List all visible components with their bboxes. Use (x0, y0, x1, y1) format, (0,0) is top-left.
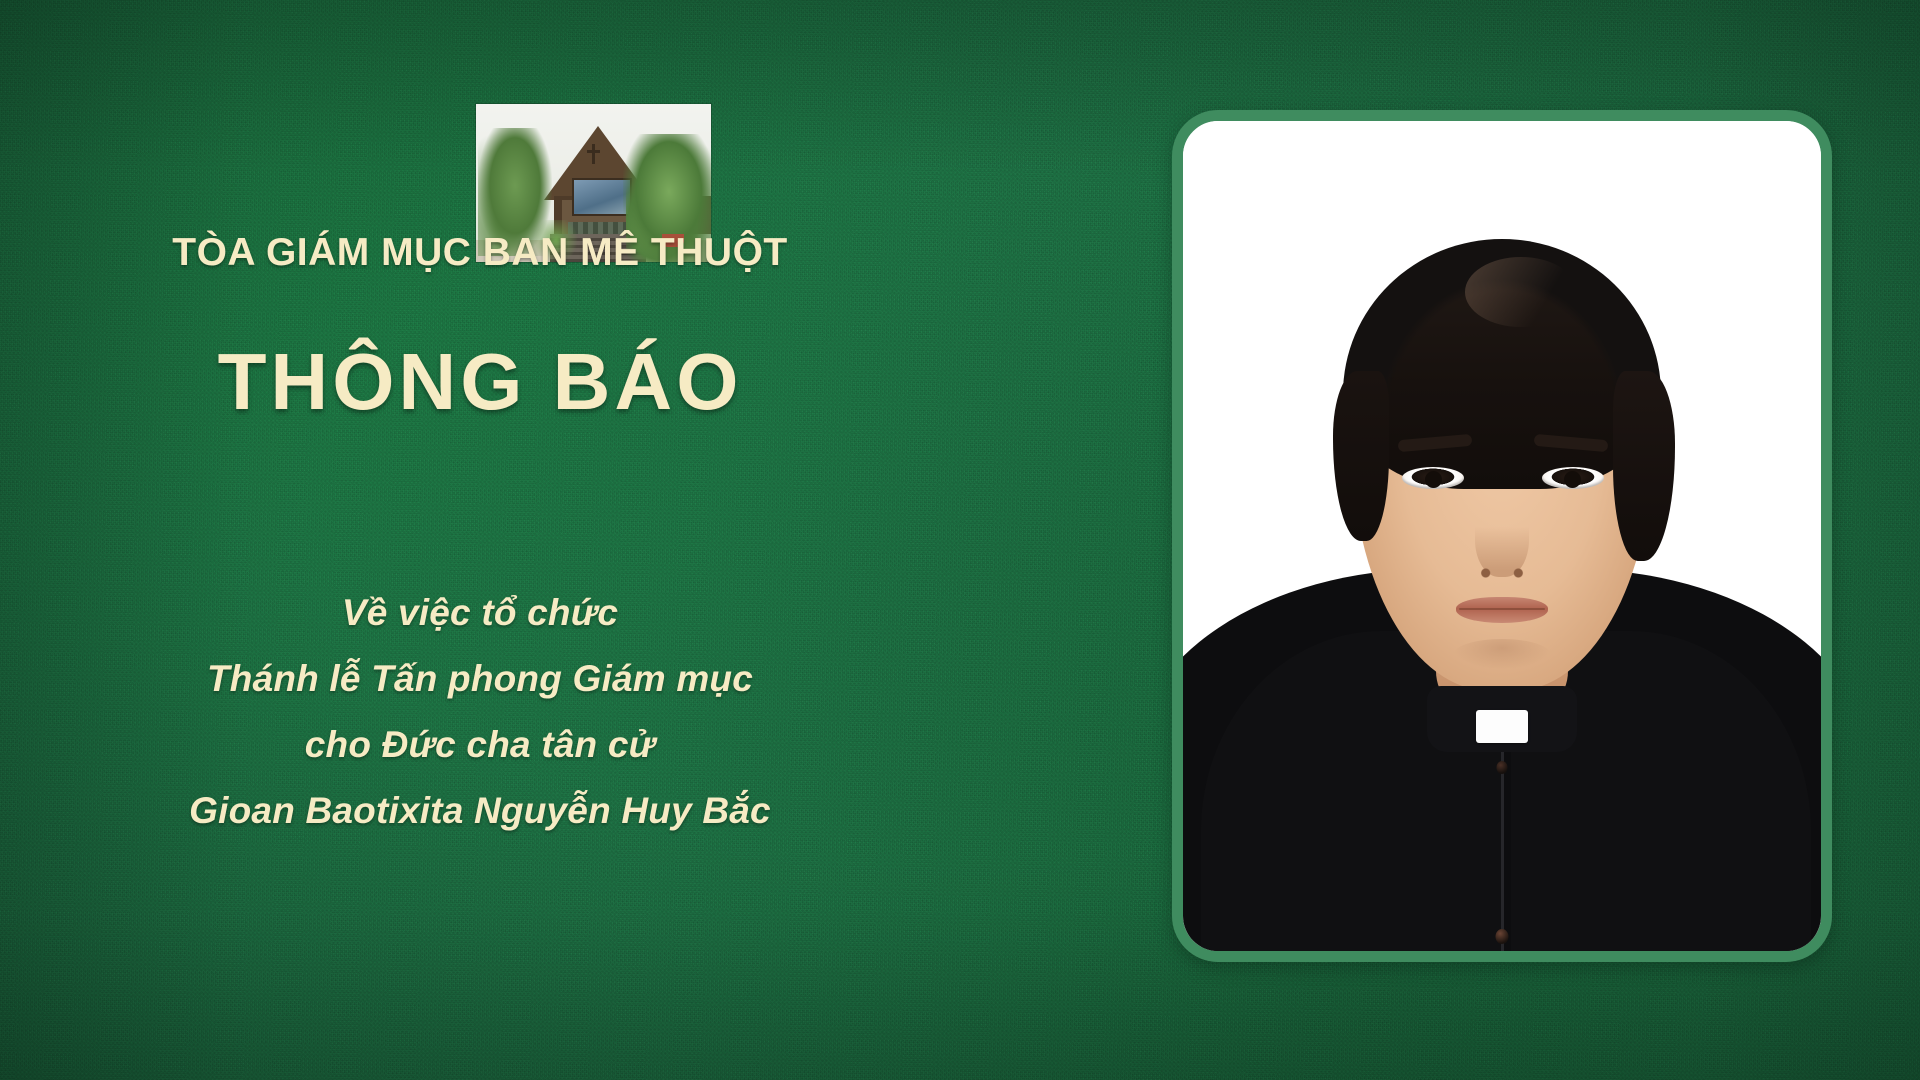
portrait-mouth (1456, 597, 1548, 623)
cross-icon (592, 144, 595, 164)
portrait-pupil-left (1425, 471, 1442, 488)
portrait-hair-highlight (1465, 257, 1577, 327)
portrait-lip-line (1459, 608, 1545, 610)
subtitle-line-4: Gioan Baotixita Nguyễn Huy Bắc (0, 778, 960, 844)
portrait-cassock-button-lower (1496, 929, 1509, 944)
portrait-frame (1172, 110, 1832, 962)
portrait-hair-side-left (1333, 371, 1389, 541)
subtitle-line-1: Về việc tổ chức (0, 580, 960, 646)
announcement-poster: TÒA GIÁM MỤC BAN MÊ THUỘT THÔNG BÁO Về v… (0, 0, 1920, 1080)
organization-title: TÒA GIÁM MỤC BAN MÊ THUỘT (0, 232, 960, 275)
portrait-cassock-button-top (1497, 761, 1508, 774)
portrait-chin (1454, 639, 1550, 669)
subtitle-block: Về việc tổ chức Thánh lễ Tấn phong Giám … (0, 580, 960, 843)
bishop-elect-portrait (1183, 121, 1821, 951)
portrait-hair-side-right (1613, 371, 1675, 561)
subtitle-line-2: Thánh lễ Tấn phong Giám mục (0, 646, 960, 712)
portrait-pupil-right (1564, 471, 1581, 488)
subtitle-line-3: cho Đức cha tân cử (0, 712, 960, 778)
roman-collar-icon (1476, 710, 1528, 743)
portrait-nose (1475, 493, 1529, 577)
portrait-nostrils (1478, 568, 1526, 578)
left-content-column: TÒA GIÁM MỤC BAN MÊ THUỘT THÔNG BÁO Về v… (0, 0, 960, 1080)
page-title: THÔNG BÁO (0, 340, 960, 424)
